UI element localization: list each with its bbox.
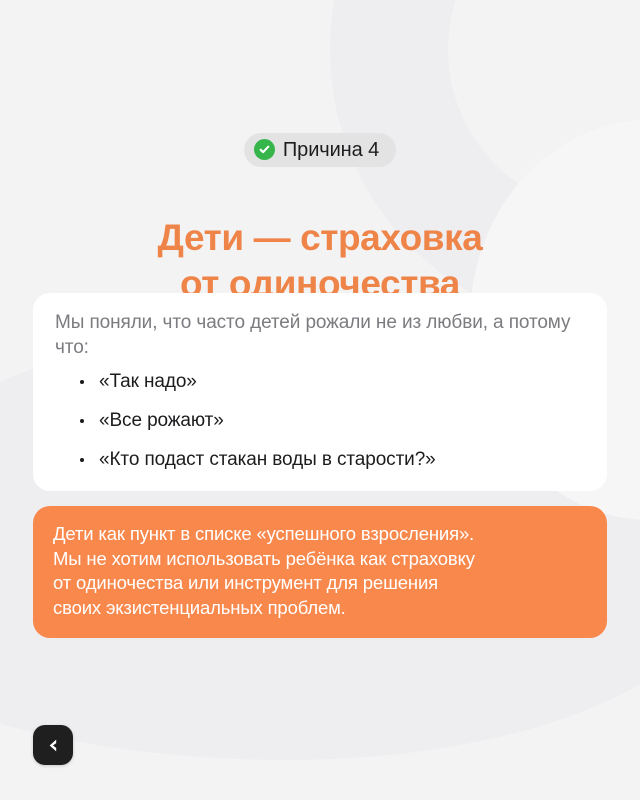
intro-paragraph: Мы поняли, что часто детей рожали не из … [55, 310, 585, 360]
reasons-bullet-list: «Так надо» «Все рожают» «Кто подаст стак… [55, 370, 585, 471]
badge-label: Причина 4 [283, 140, 379, 160]
title-line-1: Дети — страховка [0, 215, 640, 261]
list-item: «Кто подаст стакан воды в старости?» [55, 448, 585, 472]
orange-summary-card: Дети как пункт в списке «успешного взрос… [33, 506, 607, 638]
orange-line-4: своих экзистенциальных проблем. [53, 596, 587, 621]
back-button[interactable] [33, 725, 73, 765]
orange-line-1: Дети как пункт в списке «успешного взрос… [53, 522, 587, 547]
orange-line-3: от одиночества или инструмент для решени… [53, 571, 587, 596]
chevron-left-icon [45, 737, 62, 754]
orange-card-text: Дети как пункт в списке «успешного взрос… [53, 522, 587, 620]
list-item: «Так надо» [55, 370, 585, 394]
check-circle-icon [254, 139, 275, 160]
orange-line-2: Мы не хотим использовать ребёнка как стр… [53, 547, 587, 572]
badge-row: Причина 4 [0, 133, 640, 167]
slide-root: Причина 4 Дети — страховка от одиночеств… [0, 0, 640, 800]
white-content-card: Мы поняли, что часто детей рожали не из … [33, 293, 607, 491]
slide-content: Причина 4 Дети — страховка от одиночеств… [0, 0, 640, 800]
list-item: «Все рожают» [55, 409, 585, 433]
reason-badge: Причина 4 [244, 133, 396, 167]
